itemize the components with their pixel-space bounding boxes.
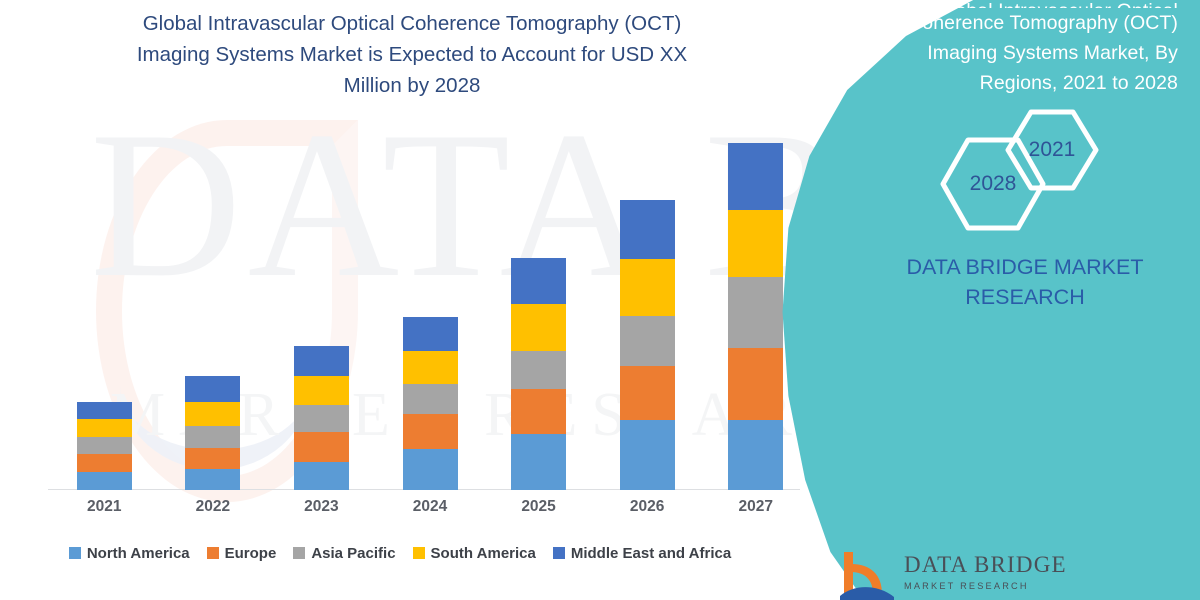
chart-title-line-2: Imaging Systems Market is Expected to Ac… (62, 39, 762, 70)
panel-title-line-2: Coherence Tomography (OCT) (796, 8, 1178, 38)
bar-segment-north-america[interactable] (403, 449, 458, 490)
logo-name: DATA BRIDGE (904, 552, 1067, 578)
legend-label: Europe (225, 545, 277, 562)
x-axis-label-2023: 2023 (281, 498, 361, 516)
legend-swatch-icon (553, 547, 565, 559)
bar-segment-middle-east-and-africa[interactable] (185, 376, 240, 401)
bar-segment-north-america[interactable] (185, 469, 240, 490)
bar-segment-south-america[interactable] (620, 259, 675, 316)
bar-segment-asia-pacific[interactable] (511, 351, 566, 389)
x-axis-labels: 2021202220232024202520262027 (40, 498, 800, 524)
hexagon-group: 2028 2021 (930, 108, 1110, 218)
chart-title-line-1: Global Intravascular Optical Coherence T… (62, 8, 762, 39)
panel-brand-text: DATA BRIDGE MARKET RESEARCH (860, 252, 1190, 312)
panel-brand-line-2: RESEARCH (860, 282, 1190, 312)
bar-segment-middle-east-and-africa[interactable] (403, 317, 458, 351)
bar-segment-asia-pacific[interactable] (77, 437, 132, 454)
legend-item-europe[interactable]: Europe (207, 545, 277, 562)
legend-item-south-america[interactable]: South America (413, 545, 536, 562)
bar-segment-north-america[interactable] (620, 420, 675, 490)
hexagon-2021-label: 2021 (1004, 108, 1100, 192)
chart-title: Global Intravascular Optical Coherence T… (62, 8, 762, 101)
infographic-canvas: DATA BRIDGE MARKET RESEARCH Global Intra… (0, 0, 1200, 600)
bar-segment-north-america[interactable] (728, 420, 783, 490)
chart-title-line-3: Million by 2028 (62, 70, 762, 101)
legend-label: South America (431, 545, 536, 562)
bar-segment-south-america[interactable] (294, 376, 349, 404)
bar-segment-europe[interactable] (77, 454, 132, 472)
bridge-b-icon (838, 550, 896, 600)
logo-mark-icon (838, 550, 896, 600)
legend-item-north-america[interactable]: North America (69, 545, 190, 562)
stacked-bars (40, 120, 800, 490)
legend-swatch-icon (69, 547, 81, 559)
bar-segment-asia-pacific[interactable] (620, 316, 675, 366)
bar-segment-asia-pacific[interactable] (294, 405, 349, 432)
x-axis-label-2025: 2025 (499, 498, 579, 516)
bar-2025[interactable] (511, 258, 566, 490)
data-bridge-logo: DATA BRIDGE MARKET RESEARCH (838, 548, 1198, 600)
panel-title-line-3: Imaging Systems Market, By (796, 38, 1178, 68)
chart-legend: North AmericaEuropeAsia PacificSouth Ame… (0, 540, 800, 566)
bar-segment-south-america[interactable] (77, 419, 132, 437)
panel-title-line-4: Regions, 2021 to 2028 (796, 68, 1178, 98)
bar-segment-middle-east-and-africa[interactable] (728, 143, 783, 210)
bar-segment-north-america[interactable] (511, 434, 566, 490)
logo-subtitle: MARKET RESEARCH (904, 581, 1067, 591)
bar-segment-middle-east-and-africa[interactable] (620, 200, 675, 258)
bar-segment-middle-east-and-africa[interactable] (77, 402, 132, 419)
legend-swatch-icon (413, 547, 425, 559)
bar-segment-north-america[interactable] (294, 462, 349, 490)
bar-2026[interactable] (620, 200, 675, 490)
x-axis-label-2026: 2026 (607, 498, 687, 516)
bar-2022[interactable] (185, 376, 240, 490)
bar-segment-europe[interactable] (403, 414, 458, 449)
bar-segment-asia-pacific[interactable] (185, 426, 240, 448)
bar-2023[interactable] (294, 346, 349, 490)
panel-title-line-1: Global Intravascular Optical (796, 0, 1178, 8)
bar-segment-south-america[interactable] (728, 210, 783, 276)
logo-text: DATA BRIDGE MARKET RESEARCH (904, 552, 1067, 591)
bar-2024[interactable] (403, 317, 458, 490)
chart-plot-area (40, 120, 800, 490)
legend-swatch-icon (207, 547, 219, 559)
legend-label: Middle East and Africa (571, 545, 731, 562)
legend-label: Asia Pacific (311, 545, 395, 562)
bar-2021[interactable] (77, 402, 132, 490)
bar-2027[interactable] (728, 143, 783, 490)
x-axis-label-2024: 2024 (390, 498, 470, 516)
bar-segment-middle-east-and-africa[interactable] (294, 346, 349, 376)
x-axis-label-2022: 2022 (173, 498, 253, 516)
bar-segment-asia-pacific[interactable] (728, 277, 783, 348)
x-axis-label-2021: 2021 (64, 498, 144, 516)
bar-segment-europe[interactable] (620, 366, 675, 419)
bar-segment-asia-pacific[interactable] (403, 384, 458, 413)
legend-swatch-icon (293, 547, 305, 559)
hexagon-2021: 2021 (1004, 108, 1100, 192)
bar-segment-south-america[interactable] (403, 351, 458, 384)
legend-item-middle-east-and-africa[interactable]: Middle East and Africa (553, 545, 731, 562)
panel-brand-line-1: DATA BRIDGE MARKET (860, 252, 1190, 282)
bar-segment-europe[interactable] (294, 432, 349, 462)
bar-segment-europe[interactable] (185, 448, 240, 469)
bar-segment-middle-east-and-africa[interactable] (511, 258, 566, 304)
bar-segment-europe[interactable] (728, 348, 783, 419)
legend-item-asia-pacific[interactable]: Asia Pacific (293, 545, 395, 562)
bar-segment-south-america[interactable] (511, 304, 566, 351)
panel-title: Global Intravascular Optical Coherence T… (796, 0, 1178, 98)
x-axis-label-2027: 2027 (716, 498, 796, 516)
legend-label: North America (87, 545, 190, 562)
bar-segment-europe[interactable] (511, 389, 566, 433)
bar-segment-south-america[interactable] (185, 402, 240, 426)
bar-segment-north-america[interactable] (77, 472, 132, 490)
